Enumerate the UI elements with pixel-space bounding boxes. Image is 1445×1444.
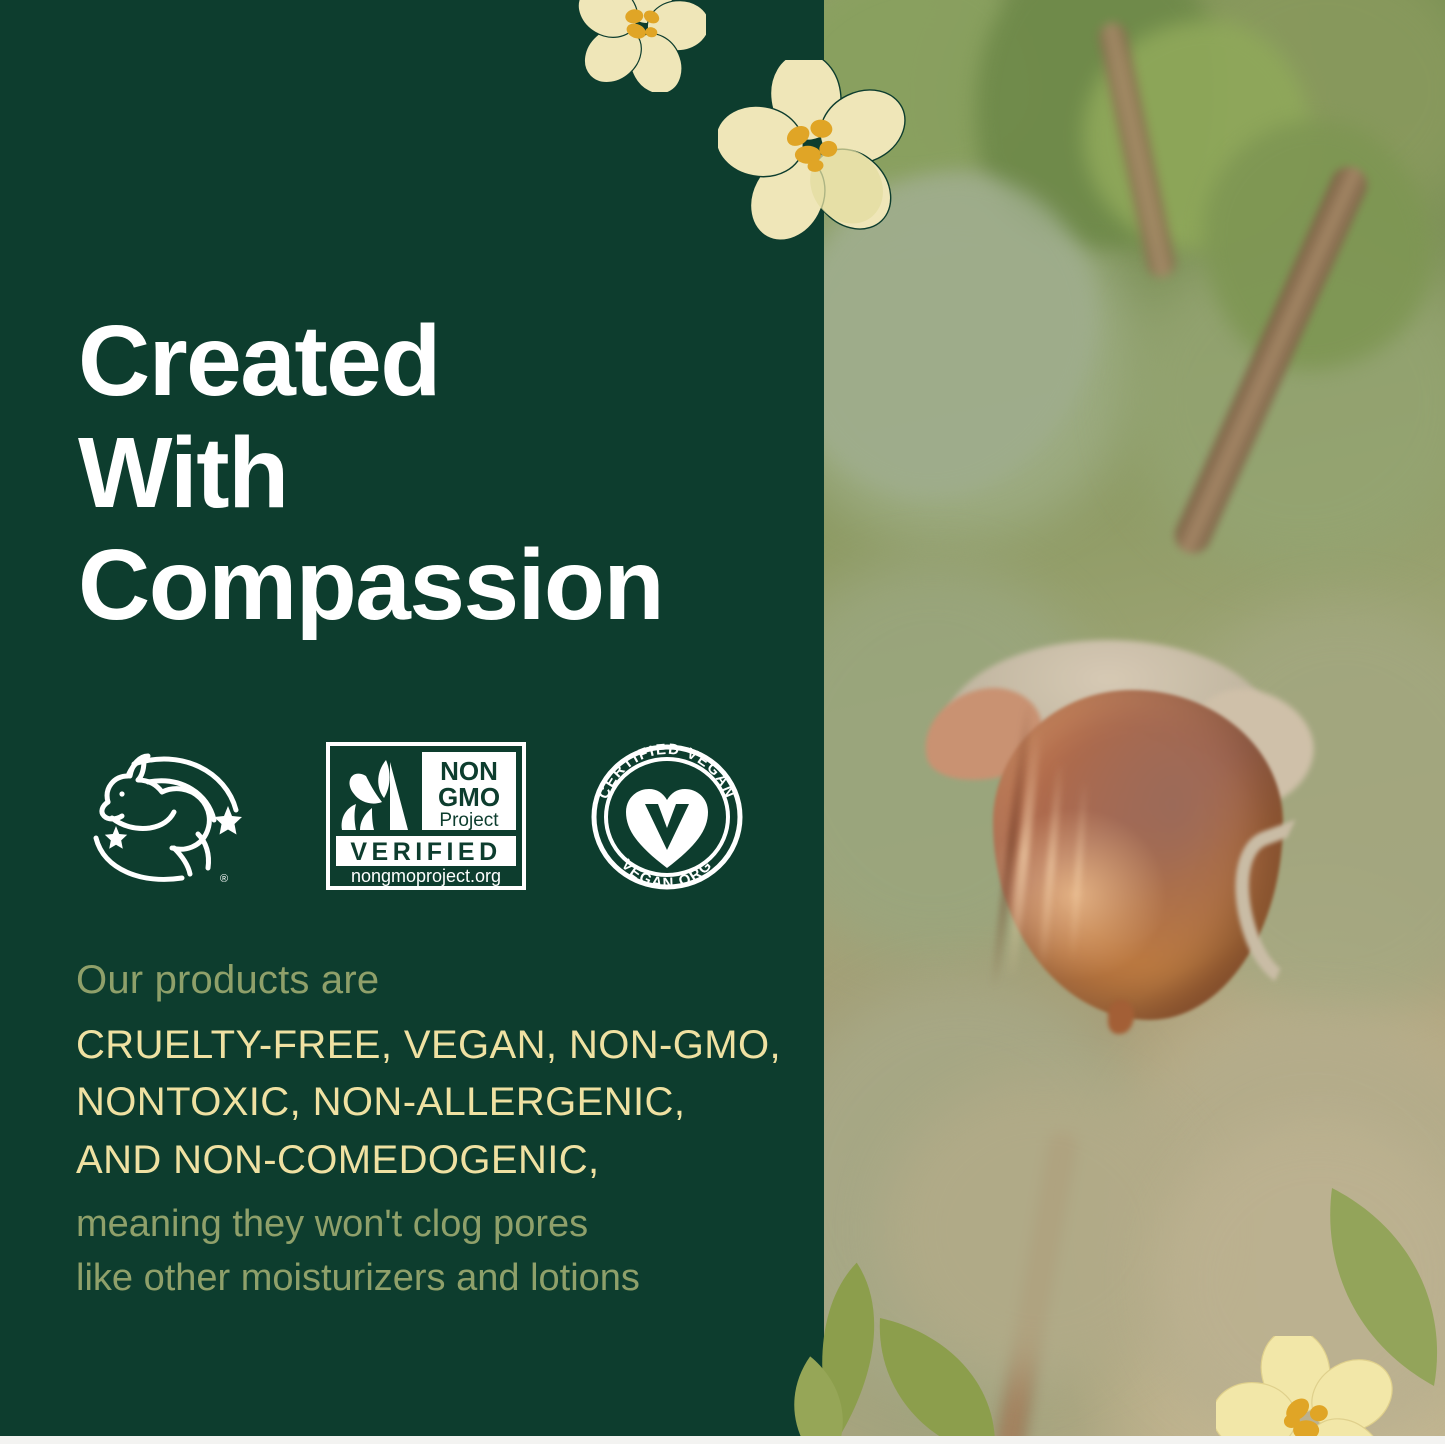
non-gmo-url: nongmoproject.org	[351, 866, 501, 886]
copy-tail: meaning they won't clog pores like other…	[76, 1198, 816, 1306]
headline-line-3: Compassion	[78, 529, 808, 641]
flower-top-right-icon	[718, 60, 908, 240]
non-gmo-line3: Project	[439, 810, 499, 831]
registered-mark: ®	[220, 873, 228, 885]
body-copy: Our products are CRUELTY-FREE, VEGAN, NO…	[76, 952, 816, 1305]
non-gmo-line2: GMO	[438, 782, 500, 812]
tail-line-2: like other moisturizers and lotions	[76, 1252, 816, 1306]
marketing-banner: Created With Compassion	[0, 0, 1445, 1444]
leaf-bottom-3-icon	[862, 1310, 1012, 1444]
flower-bottom-right-icon	[1216, 1336, 1396, 1444]
vegan-top-arc: CERTIFIED VEGAN	[595, 742, 739, 801]
headline-line-1: Created	[78, 305, 808, 417]
claim-line-1: CRUELTY-FREE, VEGAN, NON-GMO,	[76, 1017, 816, 1075]
copy-claims: CRUELTY-FREE, VEGAN, NON-GMO, NONTOXIC, …	[76, 1017, 816, 1190]
leaf-bottom-2-icon	[762, 1352, 872, 1444]
certification-badges: ® NON GMO Project	[78, 742, 778, 892]
non-gmo-badge: NON GMO Project VERIFIED nongmoproject.o…	[326, 742, 526, 890]
claim-line-3: AND NON-COMEDOGENIC,	[76, 1132, 816, 1190]
non-gmo-verified: VERIFIED	[350, 838, 501, 866]
flower-top-left-icon	[576, 0, 706, 92]
certified-vegan-badge: CERTIFIED VEGAN VEGAN.ORG	[582, 742, 752, 892]
claim-line-2: NONTOXIC, NON-ALLERGENIC,	[76, 1074, 816, 1132]
bottom-edge-strip	[0, 1436, 1445, 1444]
page-title: Created With Compassion	[78, 305, 808, 641]
tail-line-1: meaning they won't clog pores	[76, 1198, 816, 1252]
leaping-bunny-badge: ®	[78, 742, 250, 892]
copy-lead: Our products are	[76, 952, 816, 1009]
headline-line-2: With	[78, 417, 808, 529]
